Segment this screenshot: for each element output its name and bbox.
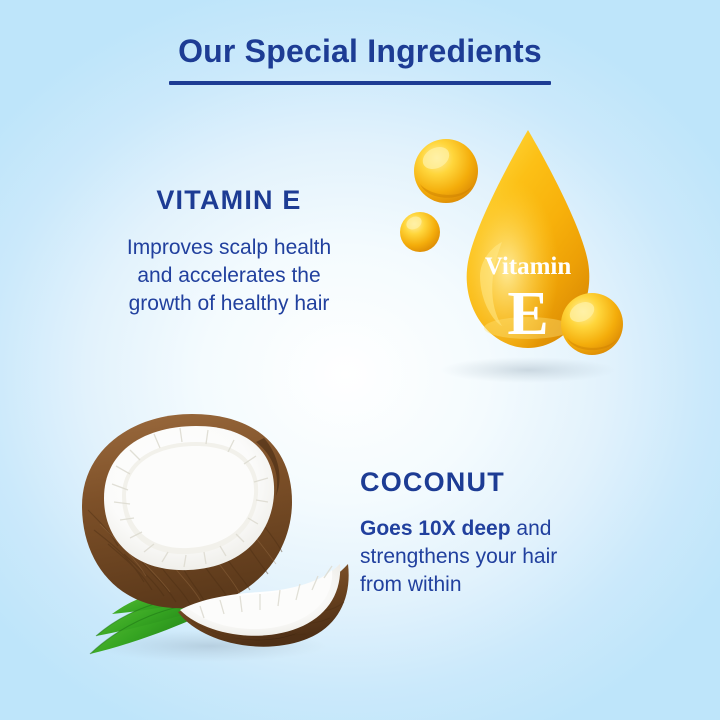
bubble-small [400, 212, 440, 252]
body-line: growth of healthy hair [76, 290, 382, 318]
droplet-shadow [440, 357, 616, 383]
oil-droplet-illustration: Vitamin E [398, 122, 643, 392]
ingredient-heading-vitamin-e: VITAMIN E [76, 186, 382, 216]
bubble-large [414, 139, 478, 203]
bubble-bottom-right [561, 293, 623, 355]
droplet-label-e: E [507, 280, 548, 348]
ingredient-vitamin-e: VITAMIN E Improves scalp health and acce… [76, 186, 382, 317]
body-emphasis: Goes 10X deep [360, 517, 511, 540]
ingredient-body-coconut: Goes 10X deep and strengthens your hair … [360, 515, 660, 599]
ingredient-coconut: COCONUT Goes 10X deep and strengthens yo… [360, 468, 660, 598]
ingredient-body-vitamin-e: Improves scalp health and accelerates th… [76, 234, 382, 318]
body-line: and accelerates the [76, 262, 382, 290]
ingredient-heading-coconut: COCONUT [360, 468, 660, 498]
body-line: Improves scalp health [76, 234, 382, 262]
body-text: and [511, 517, 552, 540]
ingredients-poster: Our Special Ingredients [0, 0, 720, 720]
body-line: from within [360, 571, 660, 599]
droplet-label-vitamin: Vitamin [485, 253, 572, 280]
poster-header: Our Special Ingredients [0, 34, 720, 85]
title-underline [169, 81, 551, 85]
body-line: strengthens your hair [360, 543, 660, 571]
coconut-illustration [60, 398, 360, 668]
body-line: Goes 10X deep and [360, 515, 660, 543]
page-title: Our Special Ingredients [0, 34, 720, 69]
coconut-half [82, 414, 292, 608]
